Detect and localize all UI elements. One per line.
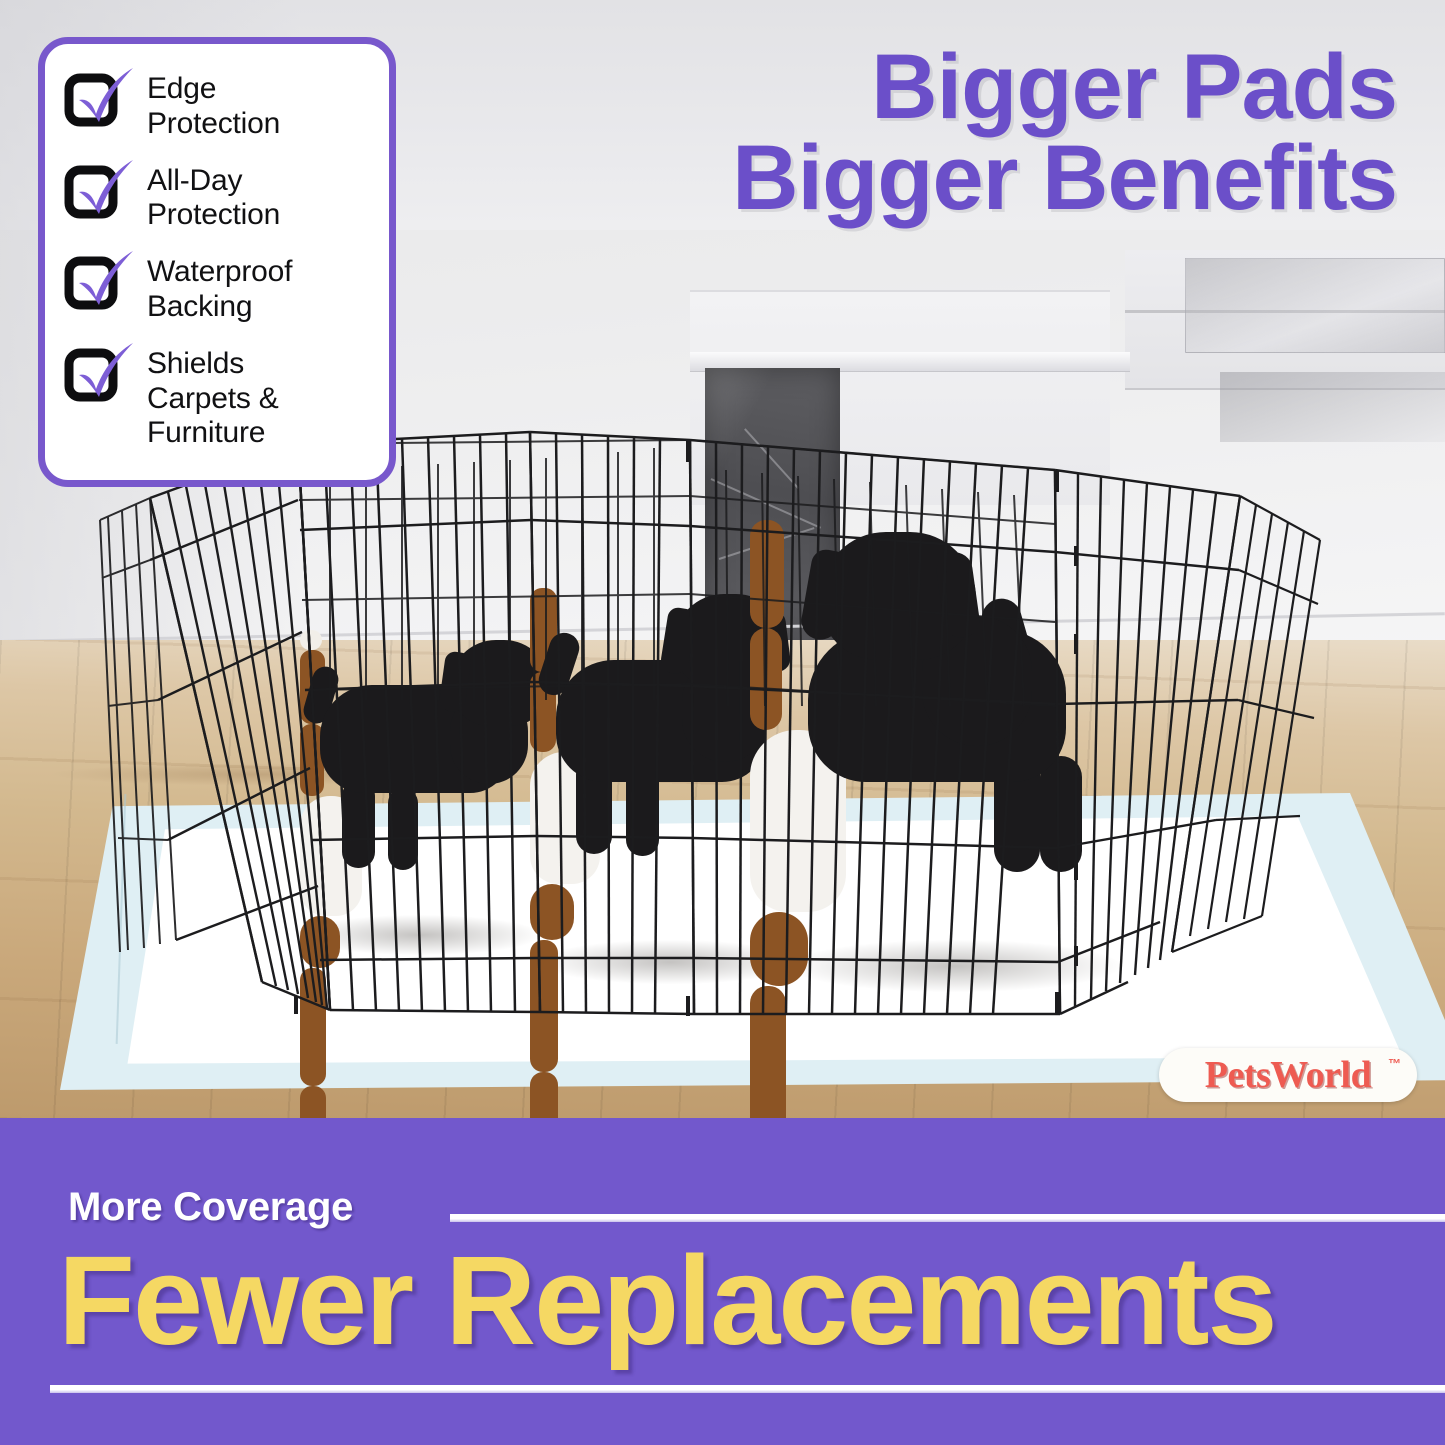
banner-rule-bottom	[50, 1385, 1445, 1393]
checkbox-check-icon	[65, 72, 125, 126]
checkbox-check-icon	[65, 347, 125, 401]
glass-panel-right-lower	[1220, 372, 1445, 442]
feature-item: WaterproofBacking	[65, 253, 371, 325]
trademark-symbol: ™	[1388, 1056, 1401, 1071]
dog-left	[300, 630, 560, 960]
headline-line-1: Bigger Pads	[732, 42, 1397, 133]
feature-item: All-DayProtection	[65, 162, 371, 234]
checkbox-check-icon	[65, 255, 125, 309]
feature-label: EdgeProtection	[147, 70, 280, 142]
headline: Bigger Pads Bigger Benefits	[732, 42, 1397, 224]
feature-item: ShieldsCarpets &Furniture	[65, 345, 371, 451]
feature-label: All-DayProtection	[147, 162, 280, 234]
headline-line-2: Bigger Benefits	[732, 133, 1397, 224]
feature-label: ShieldsCarpets &Furniture	[147, 345, 279, 451]
checkbox-check-icon	[65, 164, 125, 218]
banner-rule-top	[450, 1214, 1445, 1222]
feature-checklist-card: EdgeProtection All-DayProtection Waterpr…	[38, 37, 396, 487]
feature-item: EdgeProtection	[65, 70, 371, 142]
brand-logo-text: PetsWorld	[1205, 1053, 1371, 1097]
banner-title: Fewer Replacements	[58, 1238, 1445, 1364]
banner-subtitle: More Coverage	[68, 1185, 353, 1230]
feature-label: WaterproofBacking	[147, 253, 292, 325]
brand-logo: PetsWorld ™	[1159, 1048, 1417, 1102]
dog-right	[750, 520, 1110, 990]
product-poster: EdgeProtection All-DayProtection Waterpr…	[0, 0, 1445, 1445]
glass-panel-right	[1185, 258, 1445, 353]
